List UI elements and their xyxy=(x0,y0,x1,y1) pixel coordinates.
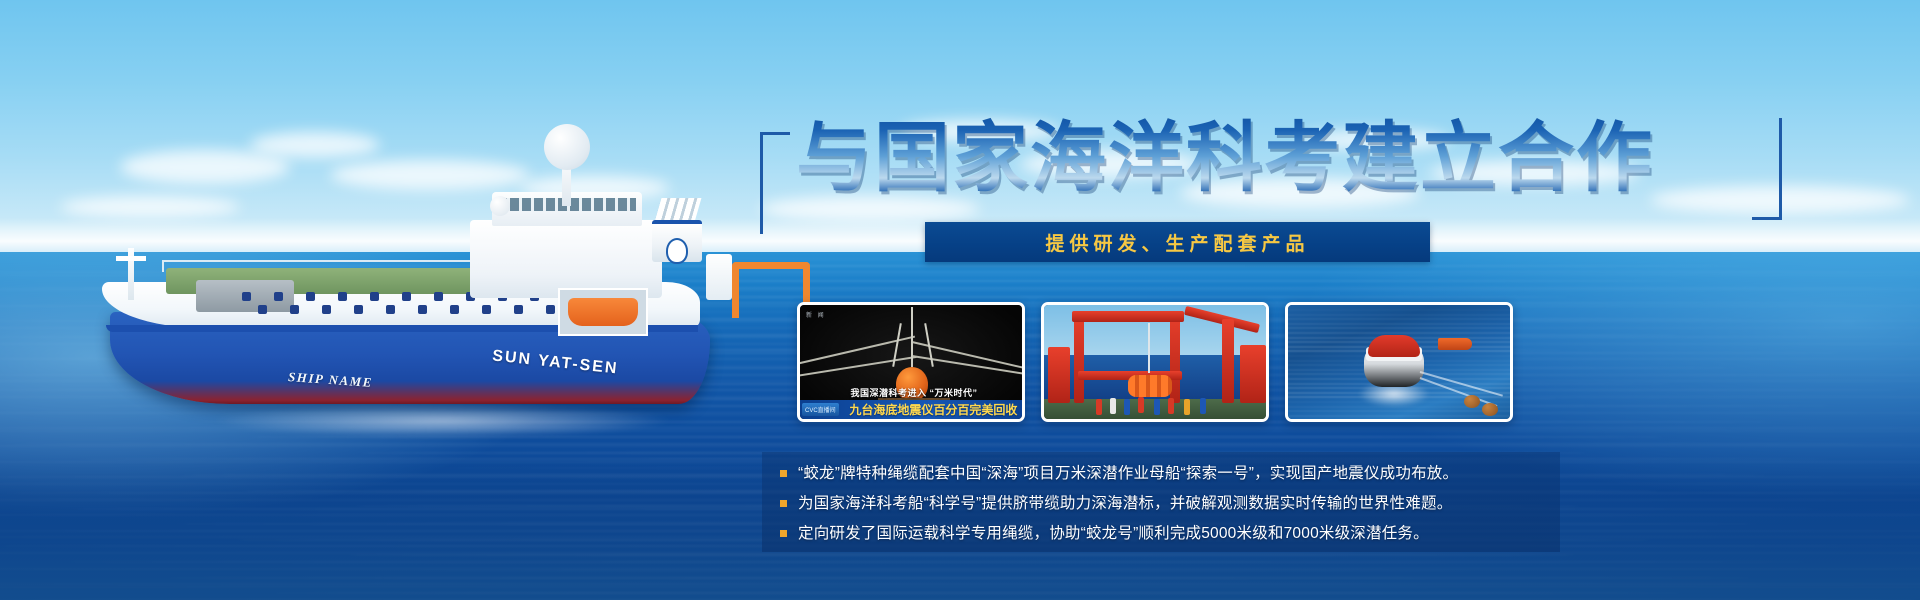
porthole xyxy=(418,305,427,314)
porthole xyxy=(514,305,523,314)
ship-funnel-emblem xyxy=(666,238,688,264)
bracket-right-decoration xyxy=(1752,118,1782,220)
ship-wake xyxy=(132,402,752,448)
ship-small-radome xyxy=(490,196,510,216)
news-caption: 我国深潜科考进入 “万米时代” xyxy=(800,386,1025,399)
ship-bow-crossbar xyxy=(116,256,146,261)
bullet-marker-icon xyxy=(780,470,787,477)
marker-buoy xyxy=(1482,403,1498,416)
porthole xyxy=(546,305,555,314)
porthole xyxy=(482,305,491,314)
ship-exhaust-pipes xyxy=(655,198,702,222)
porthole xyxy=(450,305,459,314)
ripple-line xyxy=(1285,309,1513,311)
crane-mast xyxy=(1222,319,1234,403)
news-headline-band: CVC直播间 九台海底地震仪百分百完美回收 xyxy=(800,400,1025,419)
porthole xyxy=(402,292,411,301)
porthole xyxy=(322,305,331,314)
news-corner-label: 新 闻 xyxy=(806,310,826,319)
thumbnail-news-seismometer-recovery[interactable]: 新 闻 我国深潜科考进入 “万米时代” CVC直播间 九台海底地震仪百分百完美回… xyxy=(797,302,1025,422)
cloud xyxy=(250,132,380,158)
porthole xyxy=(370,292,379,301)
crane-top-beam xyxy=(1072,311,1184,322)
crew-member xyxy=(1200,398,1206,414)
ship-superstructure xyxy=(470,220,662,298)
deck-machinery-left xyxy=(1048,347,1070,403)
crew-member xyxy=(1138,397,1144,413)
porthole xyxy=(290,305,299,314)
thumbnail-jiaolong-submersible-deployment[interactable] xyxy=(1285,302,1513,422)
ripple-line xyxy=(1285,323,1513,325)
submersible-red-sail xyxy=(1368,335,1420,357)
subtitle-text: 提供研发、生产配套产品 xyxy=(1045,229,1309,256)
porthole xyxy=(338,292,347,301)
porthole xyxy=(258,305,267,314)
porthole xyxy=(354,305,363,314)
porthole xyxy=(386,305,395,314)
crew-member xyxy=(1096,399,1102,415)
thumbnail-research-vessel-deck-crane[interactable] xyxy=(1041,302,1269,422)
thumbnail-gallery: 新 闻 我国深潜科考进入 “万米时代” CVC直播间 九台海底地震仪百分百完美回… xyxy=(797,302,1513,422)
highlight-list: “蛟龙”牌特种绳缆配套中国“深海”项目万米深潜作业母船“探索一号”，实现国产地震… xyxy=(762,452,1560,552)
marker-buoy xyxy=(1464,395,1480,408)
list-item: 为国家海洋科考船“科学号”提供脐带缆助力深海潜标，并破解观测数据实时传输的世界性… xyxy=(780,491,1542,521)
orange-float-string xyxy=(1128,375,1172,397)
ship-radome xyxy=(544,124,590,170)
ripple-line xyxy=(1285,415,1513,417)
crane-wire xyxy=(1148,323,1150,373)
list-item-text: “蛟龙”牌特种绳缆配套中国“深海”项目万米深潜作业母船“探索一号”，实现国产地震… xyxy=(798,461,1458,487)
news-headline: 九台海底地震仪百分百完美回收 xyxy=(839,401,1025,418)
bullet-marker-icon xyxy=(780,500,787,507)
crew-member xyxy=(1110,398,1116,414)
porthole xyxy=(306,292,315,301)
crane-column-left xyxy=(1074,311,1084,403)
headline-block: 与国家海洋科考建立合作 xyxy=(760,108,1770,238)
banner-stage: SHIP NAME SUN YAT-SEN 与国家海洋科考建立合作 提供研发、生… xyxy=(0,0,1920,600)
research-vessel-illustration: SHIP NAME SUN YAT-SEN xyxy=(92,176,732,436)
ship-deck-rail xyxy=(162,260,502,272)
ship-stern-crane xyxy=(706,254,732,300)
crew-member xyxy=(1184,399,1190,415)
porthole xyxy=(274,292,283,301)
ripple-line xyxy=(1285,327,1513,329)
bullet-marker-icon xyxy=(780,530,787,537)
porthole xyxy=(242,292,251,301)
ripple-line xyxy=(1285,318,1513,320)
ripple-line xyxy=(1285,419,1513,421)
deck-machinery-right xyxy=(1240,345,1266,403)
ripple-line xyxy=(1285,314,1513,316)
list-item-text: 为国家海洋科考船“科学号”提供脐带缆助力深海潜标，并破解观测数据实时传输的世界性… xyxy=(798,491,1452,517)
crew-member xyxy=(1124,399,1130,415)
crew-member xyxy=(1154,399,1160,415)
hoist-wire xyxy=(911,307,913,367)
porthole xyxy=(434,292,443,301)
ripple-line xyxy=(1285,332,1513,334)
ship-lifeboat xyxy=(568,298,638,326)
news-channel-tag: CVC直播间 xyxy=(802,403,839,416)
bracket-left-decoration xyxy=(760,132,790,234)
list-item: “蛟龙”牌特种绳缆配套中国“深海”项目万米深潜作业母船“探索一号”，实现国产地震… xyxy=(780,461,1542,491)
crew-member xyxy=(1168,398,1174,414)
subtitle-bar: 提供研发、生产配套产品 xyxy=(925,222,1430,262)
list-item-text: 定向研发了国际运载科学专用绳缆，协助“蛟龙号”顺利完成5000米级和7000米级… xyxy=(798,521,1429,547)
page-title: 与国家海洋科考建立合作 xyxy=(796,108,1746,208)
list-item: 定向研发了国际运载科学专用绳缆，协助“蛟龙号”顺利完成5000米级和7000米级… xyxy=(780,521,1542,551)
support-boat xyxy=(1438,338,1472,350)
